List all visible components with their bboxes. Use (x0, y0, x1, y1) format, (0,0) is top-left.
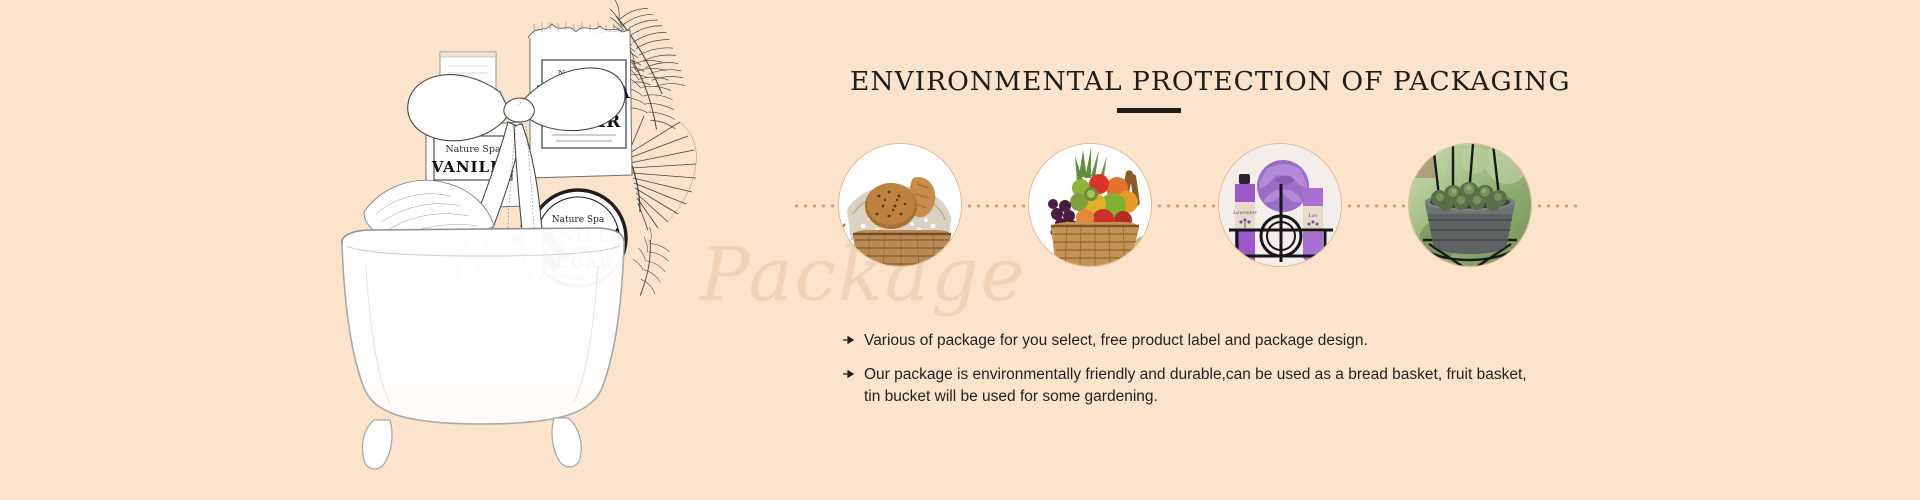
arrow-right-icon (842, 334, 854, 346)
promo-banner: Package (0, 0, 1920, 500)
dotted-connector-lead (792, 204, 836, 208)
bathtub-gift-basket-illustration: Nature Spa VANILLA AND SUGAR Nature Spa … (330, 0, 800, 490)
title-underline-rule (1117, 108, 1181, 113)
gallery-item-bread-basket[interactable] (838, 143, 962, 267)
page-title: ENVIRONMENTAL PROTECTION OF PACKAGING (850, 66, 1470, 97)
gallery-image-tin-bucket-planter[interactable] (1408, 143, 1532, 267)
dotted-connector-1 (965, 204, 1037, 208)
svg-text:Lav: Lav (1307, 213, 1317, 219)
svg-text:Nature Spa: Nature Spa (552, 215, 605, 225)
gallery-item-fruit-basket[interactable] (1028, 143, 1152, 267)
list-item: Our package is environmentally friendly … (840, 364, 1840, 408)
content-column: ENVIRONMENTAL PROTECTION OF PACKAGING (820, 0, 1910, 500)
dotted-connector-2 (1155, 204, 1227, 208)
feature-bullet-list: Various of package for you select, free … (840, 330, 1840, 420)
gallery-item-tin-bucket-planter[interactable] (1408, 143, 1532, 267)
gallery-image-bread-basket[interactable] (838, 143, 962, 267)
dotted-connector-3 (1345, 204, 1417, 208)
list-item-text-continued: tin bucket will be used for some gardeni… (864, 386, 1840, 408)
svg-text:Nature Spa: Nature Spa (445, 144, 501, 155)
list-item: Various of package for you select, free … (840, 330, 1840, 352)
gallery-image-bath-set-caddy[interactable]: Lavender Lav (1218, 143, 1342, 267)
dotted-connector-4 (1535, 204, 1583, 208)
list-item-text: Various of package for you select, free … (864, 330, 1840, 352)
svg-text:Lavender: Lavender (1232, 210, 1257, 216)
gallery-circles: Lavender Lav (838, 143, 1498, 268)
list-item-text: Our package is environmentally friendly … (864, 364, 1840, 386)
arrow-right-icon (842, 368, 854, 380)
gallery-image-fruit-basket[interactable] (1028, 143, 1152, 267)
gallery-item-bath-set-caddy[interactable]: Lavender Lav (1218, 143, 1342, 267)
